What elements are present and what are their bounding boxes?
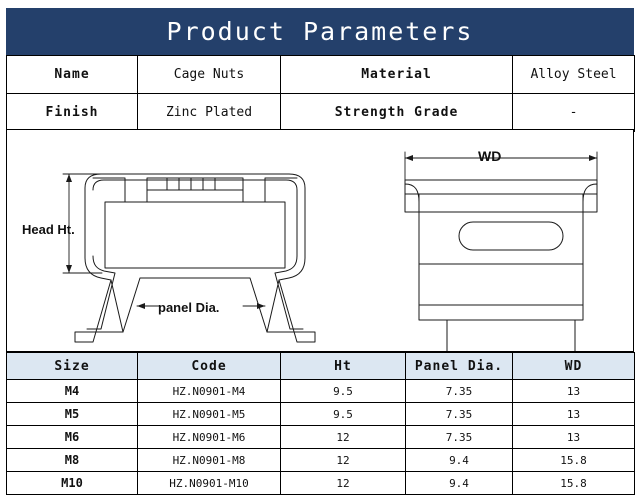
title-bar: Product Parameters xyxy=(6,8,634,55)
cell-code: HZ.N0901-M8 xyxy=(138,449,281,472)
product-info-table: Name Cage Nuts Material Alloy Steel Fini… xyxy=(6,55,635,132)
panel-diameter-label: panel Dia. xyxy=(158,300,219,315)
table-row: M5 HZ.N0901-M5 9.5 7.35 13 xyxy=(7,403,635,426)
info-label-name: Name xyxy=(7,56,138,94)
cell-panel-dia: 7.35 xyxy=(406,380,513,403)
cell-wd: 15.8 xyxy=(513,472,635,495)
spec-header-panel-dia: Panel Dia. xyxy=(406,353,513,380)
table-row: M6 HZ.N0901-M6 12 7.35 13 xyxy=(7,426,635,449)
info-value-strength-grade: - xyxy=(513,94,635,132)
head-height-label: Head Ht. xyxy=(22,222,75,237)
cell-size: M5 xyxy=(7,403,138,426)
cell-wd: 13 xyxy=(513,380,635,403)
cell-ht: 12 xyxy=(281,426,406,449)
side-view-drawing xyxy=(63,174,315,342)
cell-code: HZ.N0901-M5 xyxy=(138,403,281,426)
cell-ht: 9.5 xyxy=(281,380,406,403)
technical-drawings-panel xyxy=(6,129,634,352)
cell-panel-dia: 7.35 xyxy=(406,403,513,426)
table-row: M10 HZ.N0901-M10 12 9.4 15.8 xyxy=(7,472,635,495)
info-label-finish: Finish xyxy=(7,94,138,132)
info-label-material: Material xyxy=(281,56,513,94)
cell-ht: 12 xyxy=(281,449,406,472)
info-value-material: Alloy Steel xyxy=(513,56,635,94)
cell-size: M4 xyxy=(7,380,138,403)
spec-header-ht: Ht xyxy=(281,353,406,380)
table-row: M8 HZ.N0901-M8 12 9.4 15.8 xyxy=(7,449,635,472)
cell-size: M10 xyxy=(7,472,138,495)
page-title: Product Parameters xyxy=(167,17,474,46)
info-label-strength-grade: Strength Grade xyxy=(281,94,513,132)
product-parameters-sheet: Product Parameters Name Cage Nuts Materi… xyxy=(0,0,640,495)
cell-size: M8 xyxy=(7,449,138,472)
cell-code: HZ.N0901-M4 xyxy=(138,380,281,403)
cell-code: HZ.N0901-M10 xyxy=(138,472,281,495)
cell-panel-dia: 7.35 xyxy=(406,426,513,449)
cell-size: M6 xyxy=(7,426,138,449)
technical-drawing-svg xyxy=(7,130,634,352)
info-row-finish: Finish Zinc Plated Strength Grade - xyxy=(7,94,635,132)
wd-label: WD xyxy=(478,148,501,164)
specification-table: Size Code Ht Panel Dia. WD M4 HZ.N0901-M… xyxy=(6,352,635,495)
cell-panel-dia: 9.4 xyxy=(406,449,513,472)
table-row: M4 HZ.N0901-M4 9.5 7.35 13 xyxy=(7,380,635,403)
cell-panel-dia: 9.4 xyxy=(406,472,513,495)
spec-header-size: Size xyxy=(7,353,138,380)
info-row-name: Name Cage Nuts Material Alloy Steel xyxy=(7,56,635,94)
info-value-name: Cage Nuts xyxy=(138,56,281,94)
cell-code: HZ.N0901-M6 xyxy=(138,426,281,449)
cell-wd: 15.8 xyxy=(513,449,635,472)
cell-ht: 12 xyxy=(281,472,406,495)
spec-header-code: Code xyxy=(138,353,281,380)
cell-wd: 13 xyxy=(513,403,635,426)
cell-ht: 9.5 xyxy=(281,403,406,426)
spec-header-row: Size Code Ht Panel Dia. WD xyxy=(7,353,635,380)
front-view-drawing xyxy=(405,152,597,352)
info-value-finish: Zinc Plated xyxy=(138,94,281,132)
cell-wd: 13 xyxy=(513,426,635,449)
spec-header-wd: WD xyxy=(513,353,635,380)
